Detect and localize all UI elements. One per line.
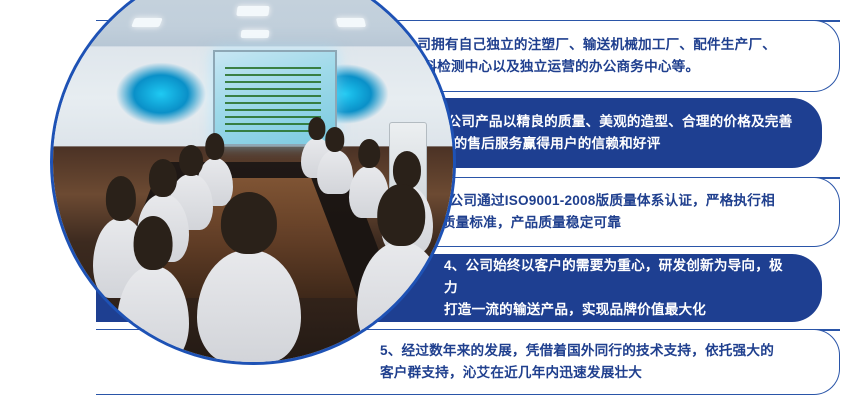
attendee bbox=[357, 242, 445, 354]
feature-item-3-line-2: 关质量标准，产品质量稳定可靠 bbox=[428, 215, 621, 230]
ceiling-light-icon bbox=[131, 18, 163, 27]
feature-item-2-line-1: 2、公司产品以精良的质量、美观的造型、合理的价格及完善 bbox=[426, 114, 792, 129]
feature-item-2-text: 2、公司产品以精良的质量、美观的造型、合理的价格及完善 周密的售后服务赢得用户的… bbox=[426, 111, 792, 155]
feature-item-5-line-2: 客户群支持，沁艾在近几年内迅速发展壮大 bbox=[380, 365, 642, 380]
ceiling-light-icon bbox=[336, 18, 366, 27]
photo-scene bbox=[53, 0, 453, 362]
attendee bbox=[317, 150, 353, 194]
ceiling-light-icon bbox=[236, 6, 269, 16]
projector-slide-text bbox=[225, 67, 321, 133]
conference-room-photo bbox=[53, 0, 453, 362]
feature-item-3-line-1: 3、公司通过ISO9001-2008版质量体系认证，严格执行相 bbox=[428, 193, 775, 208]
slide-canvas: 1、公司拥有自己独立的注塑厂、输送机械加工厂、配件生产厂、 工程塑料检测中心以及… bbox=[0, 0, 865, 408]
feature-item-4-text: 4、公司始终以客户的需要为重心，研发创新为导向，极力 打造一流的输送产品，实现品… bbox=[444, 255, 796, 321]
feature-item-4-line-2: 打造一流的输送产品，实现品牌价值最大化 bbox=[444, 302, 706, 317]
ceiling-light-icon bbox=[241, 30, 270, 38]
feature-item-3-text: 3、公司通过ISO9001-2008版质量体系认证，严格执行相 关质量标准，产品… bbox=[428, 190, 775, 234]
feature-item-2-line-2: 周密的售后服务赢得用户的信赖和好评 bbox=[426, 136, 661, 151]
feature-item-4-line-1: 4、公司始终以客户的需要为重心，研发创新为导向，极力 bbox=[444, 258, 783, 295]
